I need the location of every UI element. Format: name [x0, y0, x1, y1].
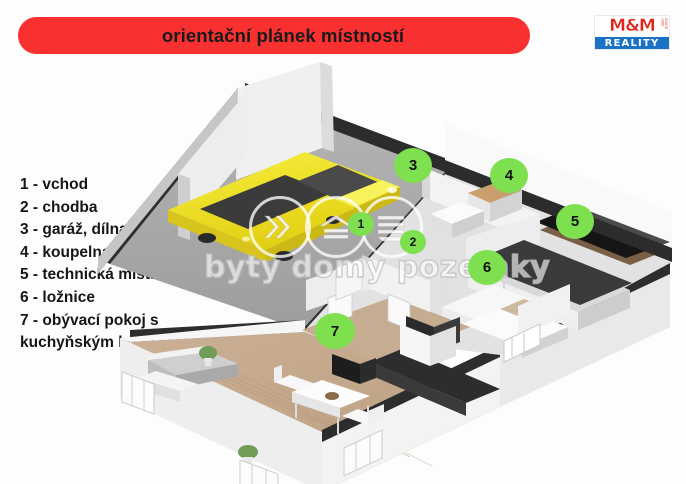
room-badge-7: 7	[315, 313, 355, 349]
mm-reality-logo: M&M SINCE 1996 REALITY	[594, 15, 670, 50]
room-badge-3: 3	[394, 148, 432, 183]
room-badge-2: 2	[400, 230, 426, 254]
floorplan-illustration	[70, 62, 686, 484]
logo-brand-text: M&M	[609, 18, 655, 35]
room-badge-4: 4	[490, 158, 528, 193]
logo-band: REALITY	[595, 37, 669, 49]
room-badge-1: 1	[348, 212, 374, 236]
logo-brand-area: M&M SINCE 1996	[595, 16, 669, 37]
floorplan-page: orientační plánek místností M&M SINCE 19…	[0, 0, 686, 484]
room-badge-6: 6	[468, 250, 506, 285]
room-badge-5: 5	[556, 204, 594, 239]
logo-since-text: SINCE 1996	[660, 18, 667, 37]
title-banner: orientační plánek místností	[18, 17, 530, 54]
logo-subtitle-text: REALITY	[605, 38, 660, 49]
page-title: orientační plánek místností	[144, 25, 404, 47]
